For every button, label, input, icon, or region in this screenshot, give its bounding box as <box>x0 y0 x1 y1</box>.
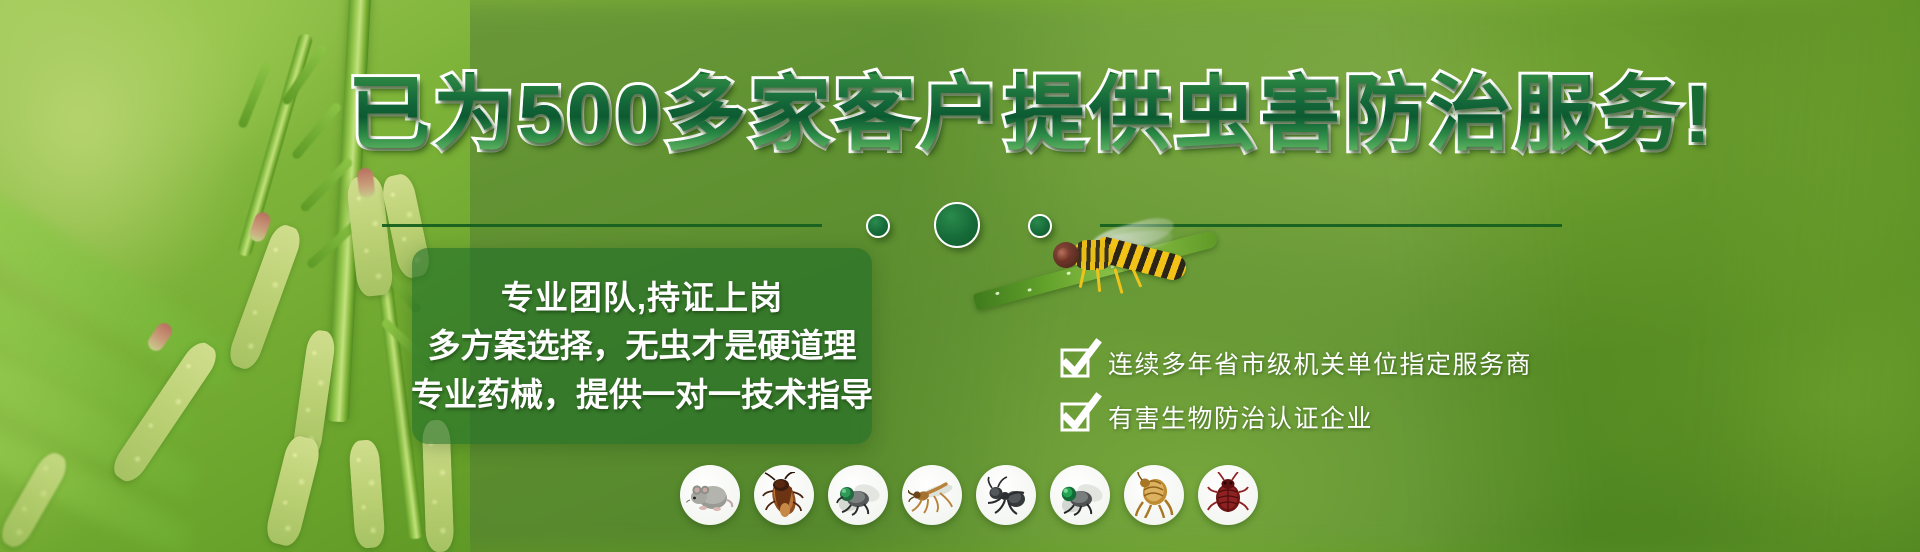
selling-points-panel: 专业团队,持证上岗 多方案选择，无虫才是硬道理 专业药械，提供一对一技术指导 <box>412 248 872 444</box>
cockroach-icon[interactable] <box>754 465 814 525</box>
check-square-icon <box>1062 348 1092 378</box>
credential-item: 有害生物防治认证企业 <box>1062 390 1532 444</box>
hoverfly-thorax <box>1073 240 1113 270</box>
divider-line-left <box>382 224 822 227</box>
housefly-icon[interactable] <box>828 465 888 525</box>
selling-point-2: 多方案选择，无虫才是硬道理 <box>428 324 857 368</box>
decorative-divider <box>0 203 1920 247</box>
page-title: 已为500多家客户提供虫害防治服务!已为500多家客户提供虫害防治服务! <box>348 74 1588 156</box>
selling-point-1: 专业团队,持证上岗 <box>501 276 783 320</box>
selling-point-3: 专业药械，提供一对一技术指导 <box>412 373 872 417</box>
credential-label: 连续多年省市级机关单位指定服务商 <box>1108 345 1532 381</box>
flea-icon[interactable] <box>1124 465 1184 525</box>
divider-dot-small-left <box>866 214 890 238</box>
pest-control-hero-banner: 已为500多家客户提供虫害防治服务!已为500多家客户提供虫害防治服务! 专业团… <box>0 0 1920 552</box>
blowfly-icon[interactable] <box>1050 465 1110 525</box>
bedbug-icon[interactable] <box>1198 465 1258 525</box>
hoverfly-on-leaf-illustration <box>975 228 1265 348</box>
hoverfly-leg <box>1079 266 1087 288</box>
check-square-icon <box>1062 402 1092 432</box>
hoverfly-eye <box>1057 248 1070 263</box>
ant-icon[interactable] <box>976 465 1036 525</box>
credentials-list: 连续多年省市级机关单位指定服务商 有害生物防治认证企业 <box>1062 336 1532 444</box>
mosquito-icon[interactable] <box>902 465 962 525</box>
mouse-icon[interactable] <box>680 465 740 525</box>
hoverfly-leg <box>1113 268 1123 294</box>
catkin-tip <box>356 167 375 199</box>
hoverfly-icon <box>1047 230 1197 296</box>
pest-icon-row <box>680 465 1258 525</box>
hoverfly-head <box>1053 242 1079 268</box>
credential-item: 连续多年省市级机关单位指定服务商 <box>1062 336 1532 390</box>
credential-label: 有害生物防治认证企业 <box>1108 399 1373 435</box>
hoverfly-leg <box>1096 268 1101 292</box>
page-title-gradient-overlay: 已为500多家客户提供虫害防治服务! <box>348 74 1588 156</box>
divider-dot-large <box>934 202 980 248</box>
